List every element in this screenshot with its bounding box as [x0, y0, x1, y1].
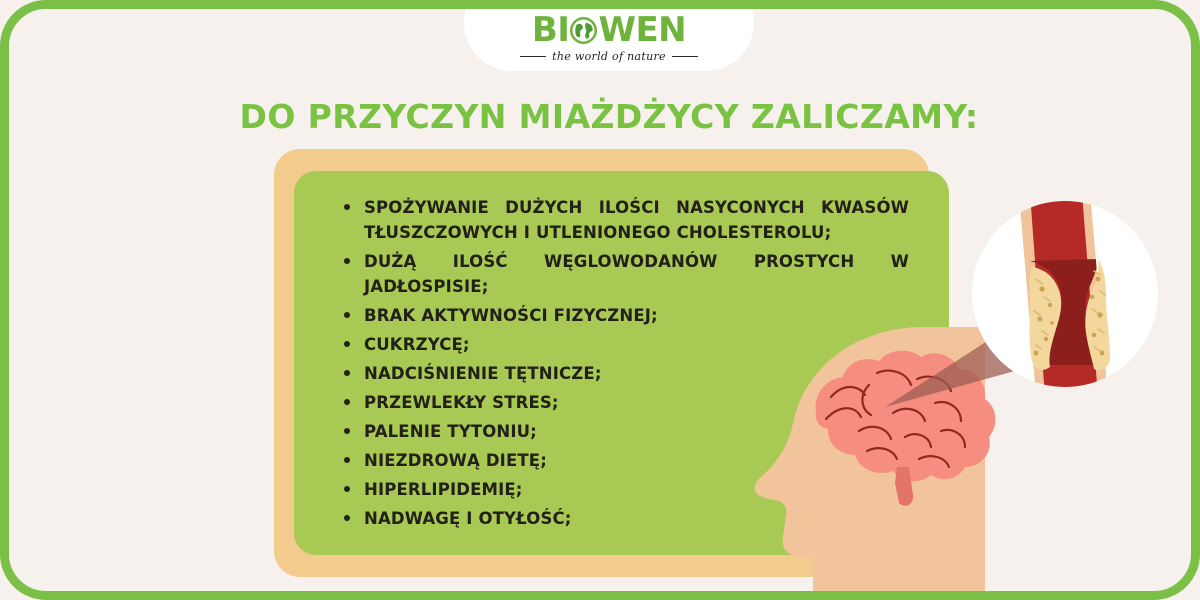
page-frame: SPOŻYWANIE DUŻYCH ILOŚCI NASYCONYCH KWAS…: [0, 0, 1200, 600]
list-item-line: JADŁOSPISIE;: [364, 274, 909, 299]
logo-text-before-globe: BI: [532, 13, 570, 47]
list-item-line: DUŻĄ ILOŚĆ WĘGLOWODANÓW PROSTYCH W: [364, 249, 909, 274]
logo-tagline-text: the world of nature: [552, 50, 666, 63]
artery-magnifier-circle: [972, 201, 1158, 387]
page-title: DO PRZYCZYN MIAŻDŻYCY ZALICZAMY:: [9, 97, 1200, 136]
list-item: BRAK AKTYWNOŚCI FIZYCZNEJ;: [342, 303, 909, 328]
tagline-rule-left: [520, 56, 546, 58]
logo[interactable]: BI WEN the world of nature: [464, 0, 754, 71]
list-item-line: TŁUSZCZOWYCH I UTLENIONEGO CHOLESTEROLU;: [364, 220, 909, 245]
logo-wordmark: BI WEN: [532, 13, 686, 47]
list-item: SPOŻYWANIE DUŻYCH ILOŚCI NASYCONYCH KWAS…: [342, 195, 909, 245]
list-item-line: SPOŻYWANIE DUŻYCH ILOŚCI NASYCONYCH KWAS…: [364, 195, 909, 220]
logo-tagline: the world of nature: [520, 50, 698, 63]
list-item: DUŻĄ ILOŚĆ WĘGLOWODANÓW PROSTYCH W JADŁO…: [342, 249, 909, 299]
tagline-rule-right: [672, 56, 698, 58]
globe-icon: [570, 17, 597, 44]
logo-text-after-globe: WEN: [598, 13, 686, 47]
